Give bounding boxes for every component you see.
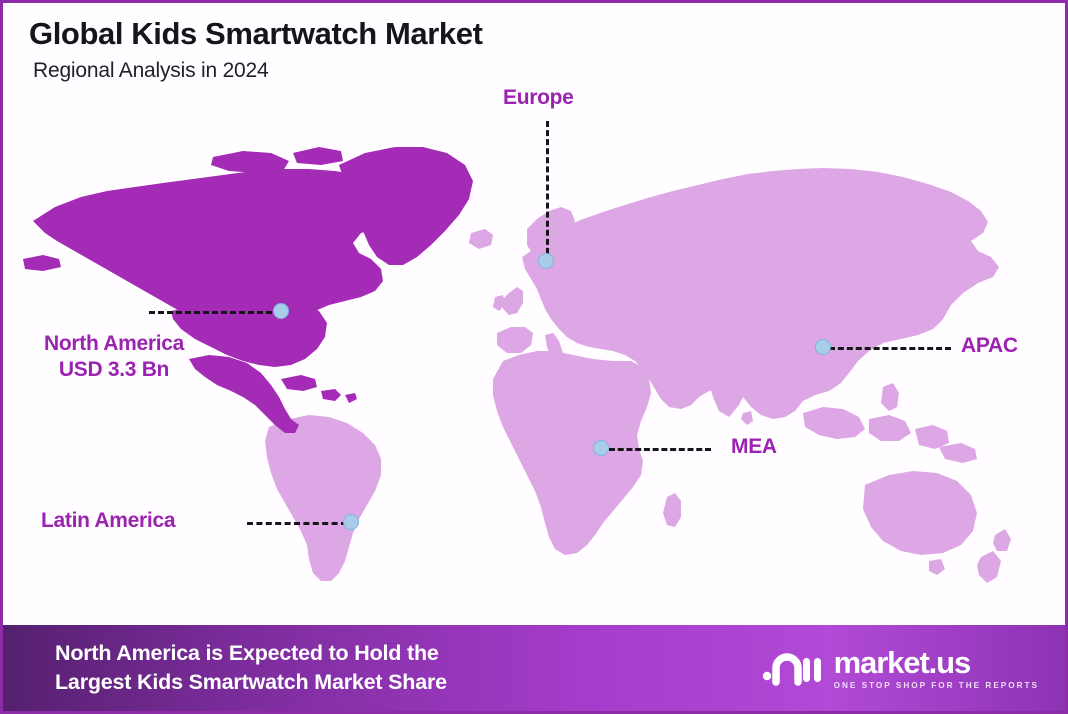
region-label-north-america-line1: North America <box>19 331 209 357</box>
infographic-frame: Global Kids Smartwatch Market Regional A… <box>0 0 1068 714</box>
marker-north-america[interactable] <box>273 303 289 319</box>
banner-headline-line1: North America is Expected to Hold the <box>55 639 447 668</box>
region-label-apac: APAC <box>961 333 1018 359</box>
marker-apac[interactable] <box>815 339 831 355</box>
leader-line-latin-america <box>247 522 347 525</box>
region-label-north-america: North America USD 3.3 Bn <box>19 331 209 382</box>
leader-line-mea <box>609 448 711 451</box>
marker-europe[interactable] <box>538 253 554 269</box>
logo-tagline: ONE STOP SHOP FOR THE REPORTS <box>834 681 1039 690</box>
banner-headline-line2: Largest Kids Smartwatch Market Share <box>55 668 447 697</box>
leader-line-apac <box>829 347 951 350</box>
region-label-latin-america: Latin America <box>41 508 175 534</box>
logo-text: market.us ONE STOP SHOP FOR THE REPORTS <box>834 647 1039 690</box>
annotation-layer: North America USD 3.3 Bn Europe APAC MEA… <box>3 3 1068 631</box>
bottom-banner: North America is Expected to Hold the La… <box>3 625 1065 711</box>
page-title: Global Kids Smartwatch Market <box>29 17 1065 51</box>
banner-headline: North America is Expected to Hold the La… <box>55 639 447 696</box>
header: Global Kids Smartwatch Market Regional A… <box>3 3 1065 83</box>
region-label-north-america-line2: USD 3.3 Bn <box>19 357 209 383</box>
leader-line-north-america <box>149 311 281 314</box>
marker-mea[interactable] <box>593 440 609 456</box>
market-us-logo-icon <box>762 646 824 690</box>
leader-line-europe <box>546 121 549 263</box>
marker-latin-america[interactable] <box>343 514 359 530</box>
region-label-europe: Europe <box>503 85 574 111</box>
page-subtitle: Regional Analysis in 2024 <box>33 59 1065 83</box>
logo-wordmark: market.us <box>834 647 971 678</box>
region-label-mea: MEA <box>731 434 777 460</box>
market-us-logo[interactable]: market.us ONE STOP SHOP FOR THE REPORTS <box>762 646 1039 690</box>
